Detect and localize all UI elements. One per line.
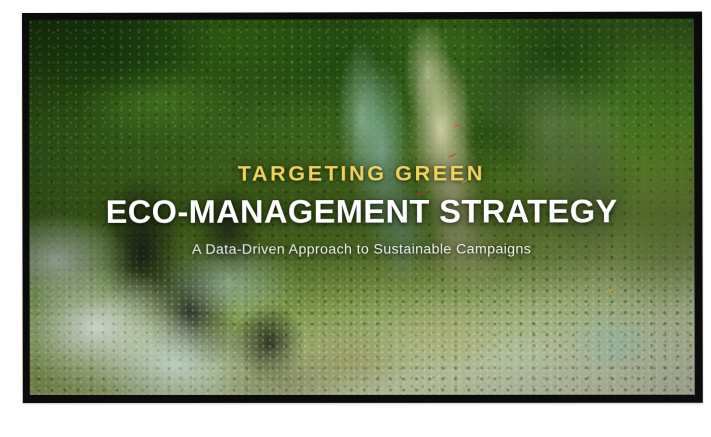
background-photo: TARGETING GREEN ECO-MANAGEMENT STRATEGY … xyxy=(29,19,695,395)
slide-frame: TARGETING GREEN ECO-MANAGEMENT STRATEGY … xyxy=(22,12,703,403)
slide-canvas: TARGETING GREEN ECO-MANAGEMENT STRATEGY … xyxy=(0,0,711,437)
main-title: ECO-MANAGEMENT STRATEGY xyxy=(47,195,676,232)
subtitle: A Data-Driven Approach to Sustainable Ca… xyxy=(47,241,676,259)
title-block: TARGETING GREEN ECO-MANAGEMENT STRATEGY … xyxy=(29,161,694,260)
eyebrow-title: TARGETING GREEN xyxy=(47,161,676,187)
